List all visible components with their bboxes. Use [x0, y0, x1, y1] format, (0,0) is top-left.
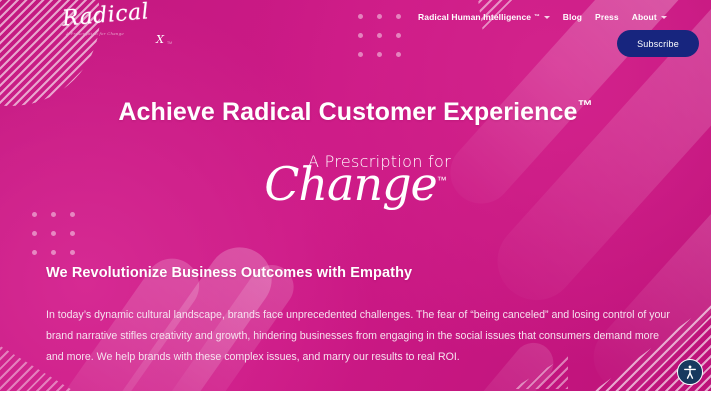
nav-label: Blog — [563, 12, 582, 22]
page-title: Achieve Radical Customer Experience™ — [0, 98, 711, 127]
nav-label: Radical Human Intelligence — [418, 12, 531, 22]
hero-section: Radical A Prescription for Change X TM R… — [0, 0, 711, 391]
logo-tm-mark: TM — [167, 41, 172, 45]
intro-paragraph: In today’s dynamic cultural landscape, b… — [46, 305, 670, 368]
script-main-text: Change™ — [0, 164, 711, 205]
logo-x-mark: X — [156, 33, 164, 46]
accessibility-button[interactable] — [677, 359, 703, 385]
nav-label: About — [632, 12, 657, 22]
chevron-down-icon — [544, 16, 550, 19]
subscribe-button[interactable]: Subscribe — [617, 30, 699, 57]
trademark-symbol: ™ — [534, 14, 540, 20]
nav-item-about[interactable]: About — [632, 12, 667, 22]
page-bottom-band — [0, 391, 711, 400]
logo-wordmark: Radical — [61, 0, 172, 31]
script-change-word: Change — [264, 157, 437, 211]
site-header: Radical A Prescription for Change X TM R… — [0, 0, 711, 64]
trademark-symbol: ™ — [578, 98, 593, 115]
main-navigation: Radical Human Intelligence ™ Blog Press … — [418, 12, 667, 22]
section-subheading: We Revolutionize Business Outcomes with … — [46, 265, 412, 281]
nav-item-blog[interactable]: Blog — [563, 12, 582, 22]
dot-grid-decoration — [32, 212, 75, 255]
page-title-text: Achieve Radical Customer Experience — [118, 98, 577, 126]
chevron-down-icon — [661, 16, 667, 19]
accessibility-icon — [682, 364, 698, 380]
nav-item-press[interactable]: Press — [595, 12, 619, 22]
brand-logo[interactable]: Radical A Prescription for Change X TM — [62, 4, 172, 48]
page-root: Radical A Prescription for Change X TM R… — [0, 0, 711, 400]
prescription-for-change-graphic: A Prescription for Change™ — [0, 152, 711, 205]
trademark-symbol: ™ — [437, 176, 447, 187]
nav-item-radical-human-intelligence[interactable]: Radical Human Intelligence ™ — [418, 12, 550, 22]
nav-label: Press — [595, 12, 619, 22]
